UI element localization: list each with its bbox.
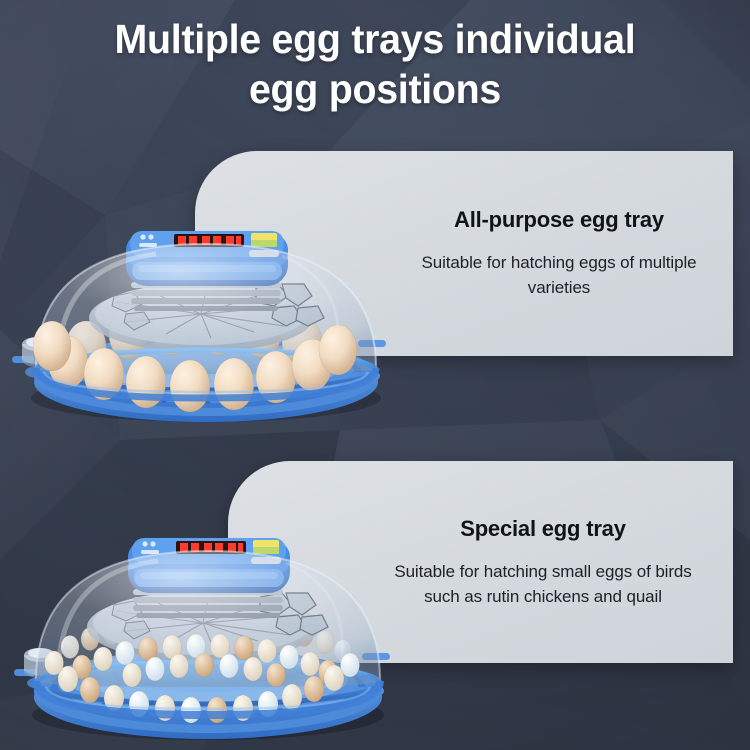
card-heading: All-purpose egg tray bbox=[454, 207, 664, 233]
banner-title: Multiple egg trays individual egg positi… bbox=[0, 14, 750, 114]
promo-banner: Multiple egg trays individual egg positi… bbox=[0, 0, 750, 750]
product-image-incubator-all-purpose bbox=[6, 222, 406, 427]
card-heading: Special egg tray bbox=[460, 516, 626, 542]
title-line-1: Multiple egg trays individual bbox=[42, 14, 708, 64]
card-body: Suitable for hatching small eggs of bird… bbox=[383, 559, 703, 609]
card-body: Suitable for hatching eggs of multiple v… bbox=[403, 250, 715, 300]
title-line-2: egg positions bbox=[42, 64, 708, 114]
product-image-incubator-special bbox=[8, 527, 408, 742]
